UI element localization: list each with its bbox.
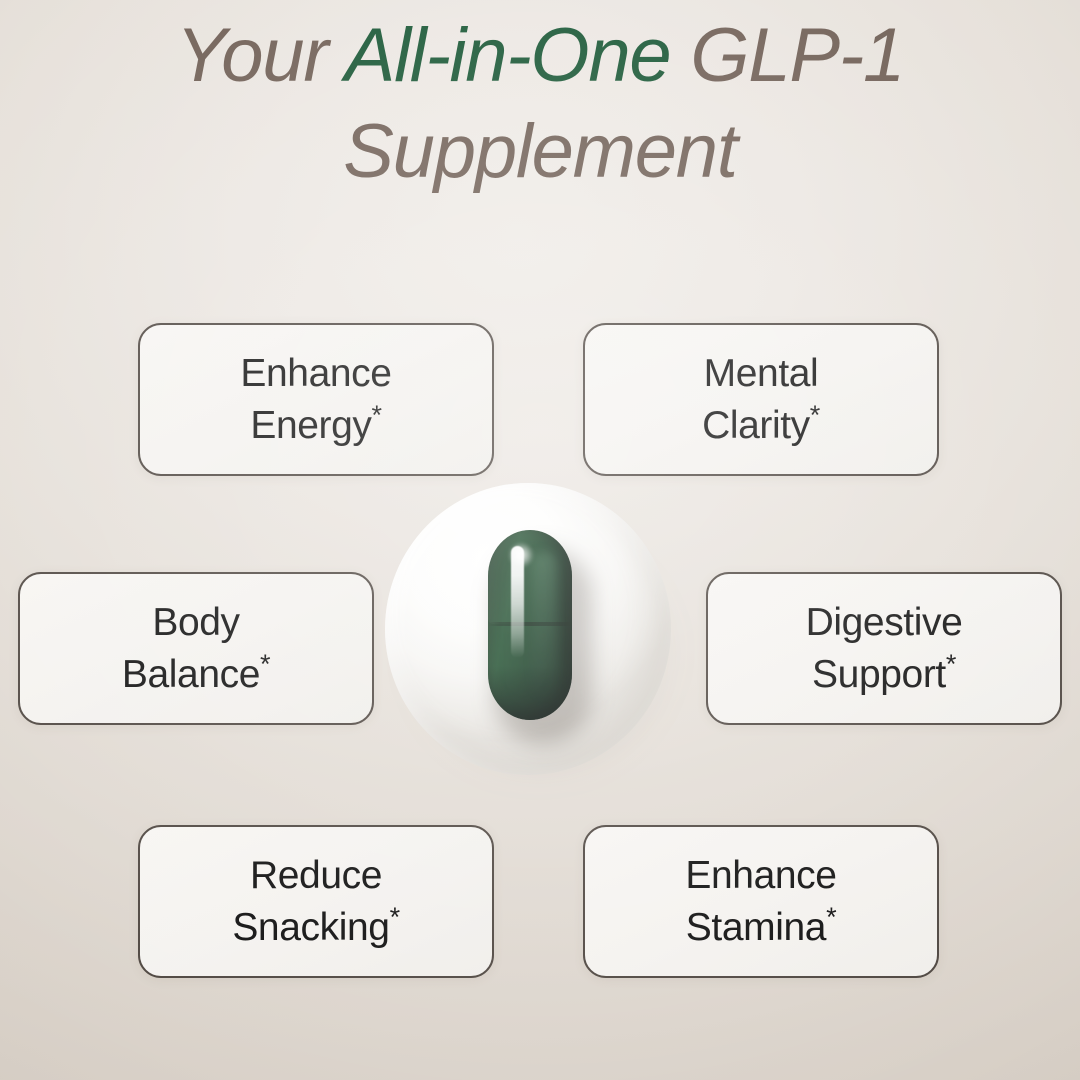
benefit-card-line-1: Enhance [240,350,391,398]
benefit-card-enhance-energy[interactable]: Enhance Energy* [138,323,494,476]
benefit-card-mental-clarity[interactable]: Mental Clarity* [583,323,939,476]
benefit-card-enhance-stamina[interactable]: Enhance Stamina* [583,825,939,978]
benefit-card-reduce-snacking[interactable]: Reduce Snacking* [138,825,494,978]
footnote-asterisk: * [390,902,400,932]
headline-accent: All-in-One [345,13,671,98]
benefit-card-line2-text: Snacking [232,906,389,949]
capsule-seam [488,622,572,626]
headline-line-2: Supplement [0,104,1080,200]
benefit-card-body-balance[interactable]: Body Balance* [18,572,374,725]
footnote-asterisk: * [946,649,956,679]
benefit-card-line-1: Body [152,599,239,647]
capsule-base-shading [488,666,572,720]
headline-line1-post: GLP-1 [670,13,904,98]
benefit-card-line-1: Enhance [685,852,836,900]
benefit-card-line-2: Support* [812,651,956,699]
benefit-card-line2-text: Stamina [686,906,826,949]
benefit-card-line-2: Stamina* [686,904,836,952]
footnote-asterisk: * [826,902,836,932]
benefit-card-line-2: Clarity* [702,402,820,450]
benefit-card-line-2: Energy* [250,402,381,450]
page-title: Your All-in-One GLP-1 Supplement [0,8,1080,200]
benefit-card-line2-text: Balance [122,653,260,696]
headline-line-1: Your All-in-One GLP-1 [0,8,1080,104]
green-capsule-icon [488,530,572,720]
benefit-card-line-1: Reduce [250,852,382,900]
benefit-card-digestive-support[interactable]: Digestive Support* [706,572,1062,725]
footnote-asterisk: * [260,649,270,679]
footnote-asterisk: * [372,400,382,430]
benefit-card-line2-text: Energy [250,404,371,447]
headline-line1-pre: Your [176,13,345,98]
product-capsule-image [375,473,687,793]
benefit-card-line-2: Snacking* [232,904,399,952]
promo-graphic: Your All-in-One GLP-1 Supplement Enhance… [0,0,1080,1080]
benefit-card-line2-text: Support [812,653,946,696]
capsule-cap [488,530,572,624]
benefit-card-line-1: Digestive [806,599,963,647]
benefit-card-line-1: Mental [704,350,819,398]
capsule-highlight-dot [508,542,534,568]
benefit-card-line-2: Balance* [122,651,270,699]
footnote-asterisk: * [810,400,820,430]
benefit-card-line2-text: Clarity [702,404,810,447]
